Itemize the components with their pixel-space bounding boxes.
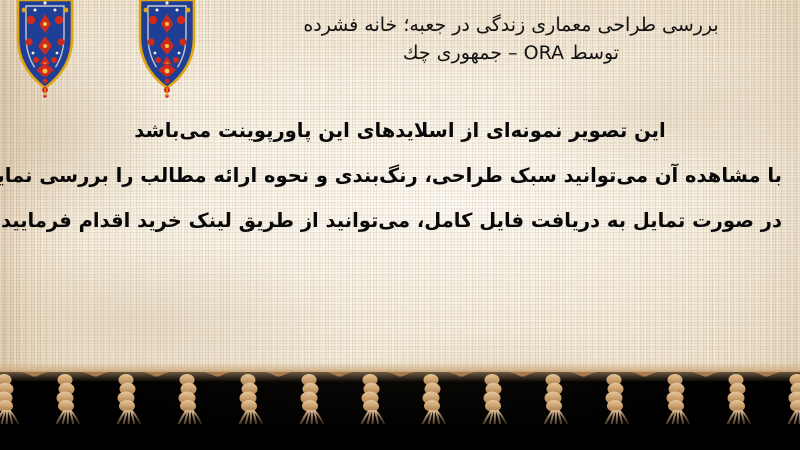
presentation-slide: بررسی طراحی معماری زندگی در جعبه؛ خانه ف… (0, 0, 800, 450)
body-line-3: در صورت تمایل به دریافت فایل کامل، می‌تو… (18, 198, 782, 243)
body-line-2: با مشاهده آن می‌توانید سبک طراحی، رنگ‌بن… (18, 153, 782, 198)
carpet-fringe-tassels (0, 372, 800, 424)
slide-title: بررسی طراحی معماری زندگی در جعبه؛ خانه ف… (250, 12, 772, 67)
slide-body-text: این تصویر نمونه‌ای از اسلایدهای این پاور… (18, 108, 782, 244)
body-line-1: این تصویر نمونه‌ای از اسلایدهای این پاور… (18, 108, 782, 153)
carpet-fringe-band (0, 372, 800, 450)
title-line-1: بررسی طراحی معماری زندگی در جعبه؛ خانه ف… (250, 12, 772, 40)
title-line-2: توسط ORA – جمهوری چك (250, 40, 772, 68)
